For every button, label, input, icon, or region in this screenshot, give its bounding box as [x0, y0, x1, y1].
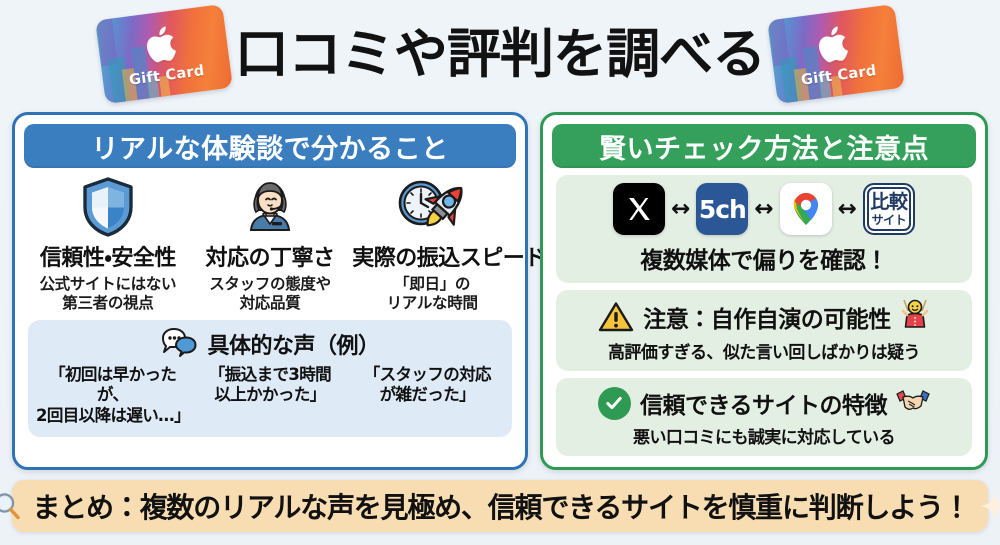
comparison-site-icon[interactable]: 比較 サイト — [863, 183, 915, 235]
voice-line2: が雑だった」 — [351, 385, 504, 406]
trust-card: 信頼できるサイトの特徴 悪い口コミにも誠実に対応している — [556, 378, 972, 456]
feature-subtext-line2: 第三者の視点 — [28, 294, 188, 313]
source-logo-row: ↔ 5ch ↔ ↔ 比較 サイト — [564, 183, 964, 235]
shield-icon — [28, 176, 188, 238]
magnifier-icon — [0, 491, 22, 521]
voice-line1: 「振込まで3時間 — [193, 365, 346, 386]
sources-caption: 複数媒体で偏りを確認！ — [564, 241, 964, 275]
warning-card-subtext: 高評価すぎる、似た言い回しばかりは疑う — [564, 338, 964, 363]
voices-title: 具体的な声（例） — [207, 328, 379, 360]
warning-card-heading: 注意：自作自演の可能性 — [643, 300, 891, 334]
warning-card-header: 注意：自作自演の可能性 — [564, 298, 964, 335]
sparkle-icon — [980, 492, 1000, 520]
page-title: 口コミや評判を調べる — [231, 28, 770, 81]
voices-card: 具体的な声（例） 「初回は早かったが、 2回目以降は遅い…」 「振込まで3時間 … — [28, 320, 512, 437]
summary-banner: まとめ：複数のリアルな声を見極め、信頼できるサイトを慎重に判断しよう！ — [12, 480, 988, 532]
apple-logo-icon — [812, 19, 858, 70]
puppet-icon — [900, 298, 930, 335]
summary-text: まとめ：複数のリアルな声を見極め、信頼できるサイトを慎重に判断しよう！ — [32, 486, 969, 526]
handshake-icon — [896, 388, 930, 419]
feature-title: 実際の振込スピード — [352, 240, 512, 272]
infographic-canvas: Gift Card 口コミや評判を調べる Gift Card リアルな体験談で分… — [0, 0, 1000, 545]
feature-list: 信頼性・安全性 公式サイトにはない 第三者の視点 — [24, 168, 516, 313]
voice-item: 「スタッフの対応 が雑だった」 — [351, 365, 504, 427]
feature-subtext-line1: 「即日」の — [352, 275, 512, 294]
voice-item: 「振込まで3時間 以上かかった」 — [193, 365, 346, 427]
voice-line2: 以上かかった」 — [193, 385, 346, 406]
feature-subtext: 公式サイトにはない 第三者の視点 — [28, 275, 188, 313]
x-twitter-logo-icon[interactable] — [613, 183, 665, 235]
feature-subtext-line2: リアルな時間 — [352, 294, 512, 313]
voices-list: 「初回は早かったが、 2回目以降は遅い…」 「振込まで3時間 以上かかった」 「… — [36, 365, 504, 427]
apple-gift-card-right: Gift Card — [767, 4, 905, 104]
feature-item-speed: 実際の振込スピード 「即日」の リアルな時間 — [352, 176, 512, 313]
trust-card-subtext: 悪い口コミにも誠実に対応している — [564, 423, 964, 448]
comparison-site-label-main: 比較 — [870, 193, 907, 212]
apple-logo-icon — [140, 19, 186, 70]
left-panel: リアルな体験談で分かること 信頼性・安全性 公式サイトにはない — [12, 112, 528, 470]
feature-subtext: 「即日」の リアルな時間 — [352, 275, 512, 313]
warning-triangle-icon — [598, 301, 634, 333]
operator-headset-icon — [190, 176, 350, 238]
feature-item-support: 対応の丁寧さ スタッフの態度や 対応品質 — [190, 176, 350, 313]
double-arrow-icon: ↔ — [671, 198, 690, 221]
feature-subtext-line1: スタッフの態度や — [190, 275, 350, 294]
clock-rocket-icon — [352, 176, 512, 238]
header: Gift Card 口コミや評判を調べる Gift Card — [0, 0, 1000, 108]
comparison-site-label-sub: サイト — [872, 214, 907, 226]
feature-subtext-line2: 対応品質 — [190, 294, 350, 313]
left-panel-heading: リアルな体験談で分かること — [24, 124, 516, 168]
feature-title: 信頼性・安全性 — [28, 240, 188, 272]
voice-line1: 「スタッフの対応 — [351, 365, 504, 386]
right-panel: 賢いチェック方法と注意点 ↔ 5ch ↔ — [540, 112, 988, 470]
trust-card-header: 信頼できるサイトの特徴 — [564, 386, 964, 420]
voices-header: 具体的な声（例） — [36, 327, 504, 361]
voice-line1: 「初回は早かったが、 — [36, 365, 189, 406]
double-arrow-icon: ↔ — [838, 198, 857, 221]
voice-item: 「初回は早かったが、 2回目以降は遅い…」 — [36, 365, 189, 427]
warning-card: 注意：自作自演の可能性 — [556, 290, 972, 371]
check-circle-icon — [598, 387, 631, 420]
trust-card-heading: 信頼できるサイトの特徴 — [640, 386, 887, 420]
voice-line2: 2回目以降は遅い…」 — [36, 406, 189, 427]
5ch-logo-icon[interactable]: 5ch — [696, 183, 748, 235]
feature-subtext-line1: 公式サイトにはない — [28, 275, 188, 294]
double-arrow-icon: ↔ — [754, 198, 773, 221]
sources-card: ↔ 5ch ↔ ↔ 比較 サイト — [556, 175, 972, 283]
feature-title: 対応の丁寧さ — [190, 240, 350, 272]
apple-gift-card-left: Gift Card — [95, 4, 233, 104]
feature-subtext: スタッフの態度や 対応品質 — [190, 275, 350, 313]
right-panel-heading: 賢いチェック方法と注意点 — [552, 124, 976, 168]
feature-item-trust: 信頼性・安全性 公式サイトにはない 第三者の視点 — [28, 176, 188, 313]
speech-bubbles-icon — [160, 327, 198, 361]
google-maps-logo-icon[interactable] — [780, 183, 832, 235]
